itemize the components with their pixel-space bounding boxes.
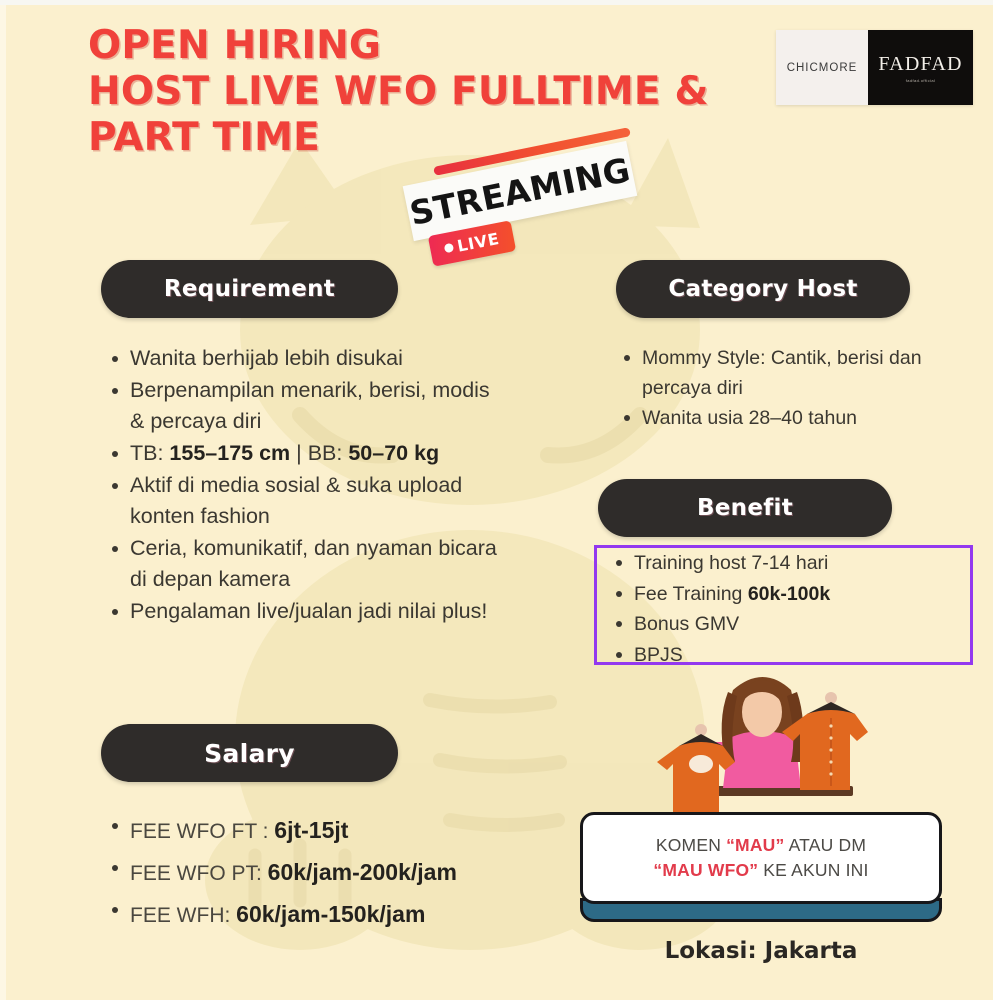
benefit-title: Benefit: [697, 495, 793, 521]
salary-item-0-amount: 6jt-15jt: [274, 817, 348, 843]
top-edge-strip: [0, 0, 993, 5]
benefit-item-1-prefix: Fee Training: [634, 583, 748, 605]
callout-keyword-mau: “MAU”: [726, 835, 784, 855]
benefit-list: Training host 7-14 hari Fee Training 60k…: [612, 548, 957, 670]
requirement-item-2-prefix: TB:: [130, 441, 169, 465]
list-item: Mommy Style: Cantik, berisi dan percaya …: [620, 343, 960, 403]
salary-title: Salary: [204, 739, 295, 768]
fadfad-logo: FADFAD fadfad.official: [868, 30, 973, 105]
category-item-1: Wanita usia 28–40 tahun: [642, 407, 857, 429]
chicmore-logo-text: CHICMORE: [787, 62, 858, 74]
callout-line-1-post: ATAU DM: [784, 835, 866, 855]
brand-logos: CHICMORE FADFAD fadfad.official: [776, 30, 973, 105]
benefit-item-2: Bonus GMV: [634, 613, 739, 635]
requirement-item-3: Aktif di media sosial & suka upload kont…: [130, 473, 462, 528]
category-host-title: Category Host: [668, 276, 857, 302]
requirement-list: Wanita berhijab lebih disukai Berpenampi…: [108, 343, 508, 628]
list-item: Ceria, komunikatif, dan nyaman bicara di…: [108, 533, 508, 595]
list-item: TB: 155–175 cm | BB: 50–70 kg: [108, 438, 508, 469]
category-host-list: Mommy Style: Cantik, berisi dan percaya …: [620, 343, 960, 433]
category-item-0: Mommy Style: Cantik, berisi dan percaya …: [642, 347, 922, 399]
headline-line-2: HOST LIVE WFO FULLTIME &: [88, 72, 778, 112]
requirement-item-4: Ceria, komunikatif, dan nyaman bicara di…: [130, 536, 497, 591]
section-header-category-host: Category Host: [616, 260, 910, 318]
left-edge-strip: [0, 0, 6, 1000]
list-item: Wanita berhijab lebih disukai: [108, 343, 508, 374]
callout-line-1: KOMEN “MAU” ATAU DM: [656, 833, 866, 858]
requirement-item-1: Berpenampilan menarik, berisi, modis & p…: [130, 378, 490, 433]
benefit-item-3: BPJS: [634, 644, 683, 666]
callout-line-1-pre: KOMEN: [656, 835, 726, 855]
requirement-item-5: Pengalaman live/jualan jadi nilai plus!: [130, 599, 487, 623]
headline-line-1: OPEN HIRING: [88, 26, 778, 66]
callout-keyword-mau-wfo: “MAU WFO”: [653, 860, 758, 880]
list-item: Bonus GMV: [612, 609, 957, 640]
list-item: Pengalaman live/jualan jadi nilai plus!: [108, 596, 508, 627]
streaming-badge: STREAMING LIVE: [404, 131, 644, 281]
list-item: FEE WFO PT: 60k/jam-200k/jam: [108, 852, 508, 894]
list-item: BPJS: [612, 640, 957, 671]
salary-item-2-amount: 60k/jam-150k/jam: [236, 901, 425, 927]
list-item: Wanita usia 28–40 tahun: [620, 403, 960, 433]
list-item: FEE WFO FT : 6jt-15jt: [108, 810, 508, 852]
salary-item-1-label: FEE WFO PT:: [130, 862, 268, 885]
list-item: Aktif di media sosial & suka upload kont…: [108, 470, 508, 532]
live-dot-icon: [444, 243, 455, 254]
salary-item-1-amount: 60k/jam-200k/jam: [268, 859, 457, 885]
woman-holding-clothes-illustration: [655, 660, 905, 820]
benefit-item-0: Training host 7-14 hari: [634, 552, 828, 574]
section-header-benefit: Benefit: [598, 479, 892, 537]
callout-line-2-post: KE AKUN INI: [758, 860, 868, 880]
section-header-salary: Salary: [101, 724, 398, 782]
streaming-label: STREAMING: [406, 150, 633, 233]
salary-list: FEE WFO FT : 6jt-15jt FEE WFO PT: 60k/ja…: [108, 810, 508, 936]
cta-callout: KOMEN “MAU” ATAU DM “MAU WFO” KE AKUN IN…: [580, 812, 942, 922]
section-header-requirement: Requirement: [101, 260, 398, 318]
requirement-item-2-weight: 50–70 kg: [348, 441, 439, 465]
salary-item-0-label: FEE WFO FT :: [130, 820, 274, 843]
requirement-item-0: Wanita berhijab lebih disukai: [130, 346, 403, 370]
location-label: Lokasi: Jakarta: [580, 938, 942, 964]
callout-line-2: “MAU WFO” KE AKUN INI: [653, 858, 868, 883]
requirement-item-2-mid: | BB:: [290, 441, 348, 465]
list-item: Fee Training 60k-100k: [612, 579, 957, 610]
benefit-item-1-amount: 60k-100k: [748, 583, 830, 605]
chicmore-logo: CHICMORE: [776, 30, 868, 105]
requirement-title: Requirement: [164, 276, 335, 302]
live-label: LIVE: [456, 229, 502, 256]
fadfad-logo-subtext: fadfad.official: [906, 78, 936, 83]
list-item: FEE WFH: 60k/jam-150k/jam: [108, 894, 508, 936]
callout-panel: KOMEN “MAU” ATAU DM “MAU WFO” KE AKUN IN…: [580, 812, 942, 904]
fadfad-logo-text: FADFAD: [878, 53, 962, 76]
requirement-item-2-height: 155–175 cm: [169, 441, 290, 465]
list-item: Berpenampilan menarik, berisi, modis & p…: [108, 375, 508, 437]
list-item: Training host 7-14 hari: [612, 548, 957, 579]
salary-item-2-label: FEE WFH:: [130, 904, 236, 927]
poster-canvas: OPEN HIRING HOST LIVE WFO FULLTIME & PAR…: [0, 0, 993, 1000]
